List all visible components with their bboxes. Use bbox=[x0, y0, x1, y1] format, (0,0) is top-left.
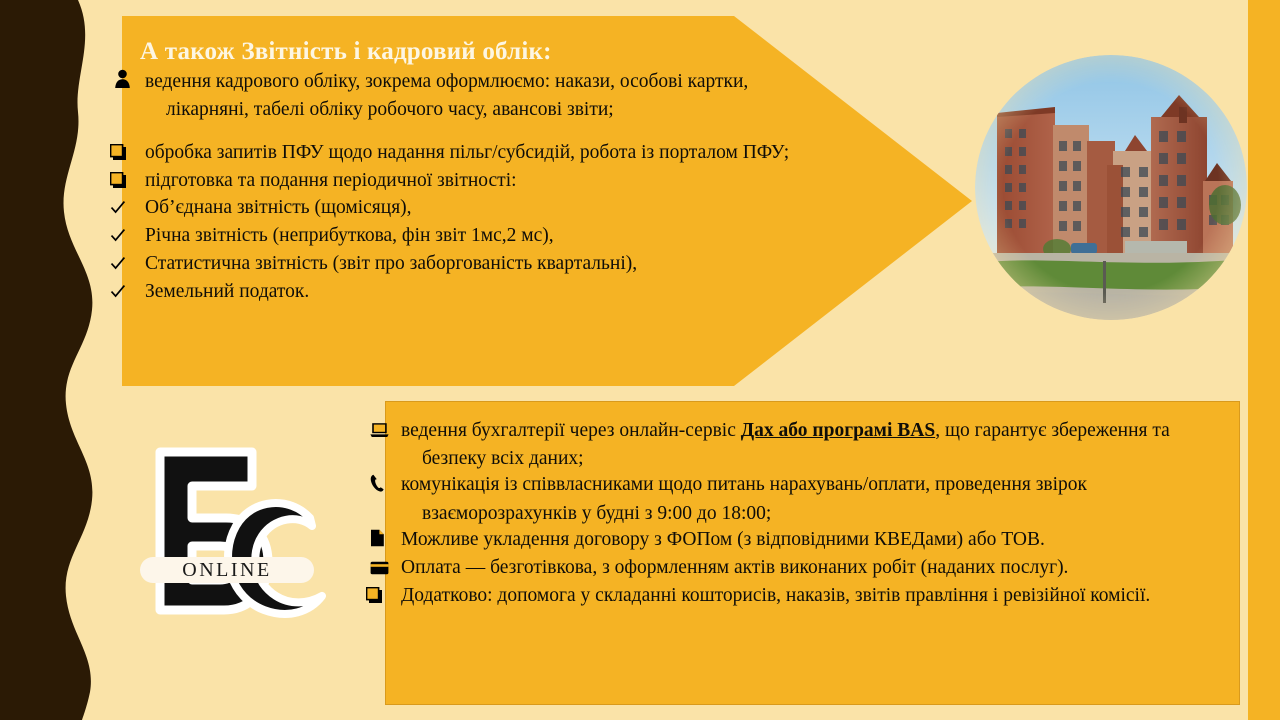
arrow-callout-content: А також Звітність і кадровий облік: веде… bbox=[122, 16, 822, 307]
photo-oval-mask bbox=[975, 55, 1247, 320]
logo-graphic: ONLINE bbox=[140, 440, 340, 655]
service-item-5-text: Додатково: допомога у складанні кошторис… bbox=[401, 585, 1150, 606]
company-logo: ONLINE bbox=[140, 440, 340, 655]
intro-text: ведення кадрового обліку, зокрема оформл… bbox=[145, 71, 748, 120]
services-box: ведення бухгалтерії через онлайн-сервіс … bbox=[385, 401, 1240, 705]
callout-bullet-5-text: Статистична звітність (звіт про заборгов… bbox=[145, 253, 637, 274]
service-item-1-before: ведення бухгалтерії через онлайн-сервіс bbox=[401, 420, 741, 441]
callout-bullet-1-text: обробка запитів ПФУ щодо надання пільг/с… bbox=[145, 142, 789, 163]
logo-tagline: ONLINE bbox=[182, 559, 271, 581]
callout-bullet-3: Об’єднана звітність (щомісяця), bbox=[140, 195, 812, 223]
service-item-4: Оплата — безготівкова, з оформленням акт… bbox=[396, 555, 1225, 583]
callout-bullet-2-text: підготовка та подання періодичної звітно… bbox=[145, 170, 517, 191]
service-item-2: комунікація із співвласниками щодо питан… bbox=[396, 472, 1225, 526]
left-wave-decoration bbox=[0, 0, 110, 720]
service-item-3: Можливе укладення договору з ФОПом (з ві… bbox=[396, 527, 1225, 555]
slide-canvas: А також Звітність і кадровий облік: веде… bbox=[0, 0, 1280, 720]
service-item-1-highlight: Дах або програмі BAS bbox=[741, 420, 935, 441]
callout-bullet-4-text: Річна звітність (неприбуткова, фін звіт … bbox=[145, 225, 554, 246]
callout-title: А також Звітність і кадровий облік: bbox=[140, 38, 812, 67]
building-photo-image bbox=[975, 55, 1247, 320]
service-item-2-text: комунікація із співвласниками щодо питан… bbox=[401, 474, 1087, 523]
callout-bullet-3-text: Об’єднана звітність (щомісяця), bbox=[145, 197, 412, 218]
service-item-3-text: Можливе укладення договору з ФОПом (з ві… bbox=[401, 529, 1045, 550]
service-item-5: Додатково: допомога у складанні кошторис… bbox=[396, 583, 1225, 611]
callout-bullet-5: Статистична звітність (звіт про заборгов… bbox=[140, 251, 812, 279]
callout-bullet-1: обробка запитів ПФУ щодо надання пільг/с… bbox=[140, 140, 812, 168]
service-item-4-text: Оплата — безготівкова, з оформленням акт… bbox=[401, 557, 1068, 578]
service-item-1: ведення бухгалтерії через онлайн-сервіс … bbox=[396, 418, 1225, 472]
right-accent-bar bbox=[1248, 0, 1280, 720]
callout-bullet-6-text: Земельний податок. bbox=[145, 281, 309, 302]
spacer bbox=[140, 123, 812, 140]
callout-bullet-2: підготовка та подання періодичної звітно… bbox=[140, 168, 812, 196]
intro-line: ведення кадрового обліку, зокрема оформл… bbox=[140, 69, 812, 123]
callout-bullet-6: Земельний податок. bbox=[140, 279, 812, 307]
building-photo bbox=[975, 55, 1247, 320]
callout-bullet-4: Річна звітність (неприбуткова, фін звіт … bbox=[140, 223, 812, 251]
